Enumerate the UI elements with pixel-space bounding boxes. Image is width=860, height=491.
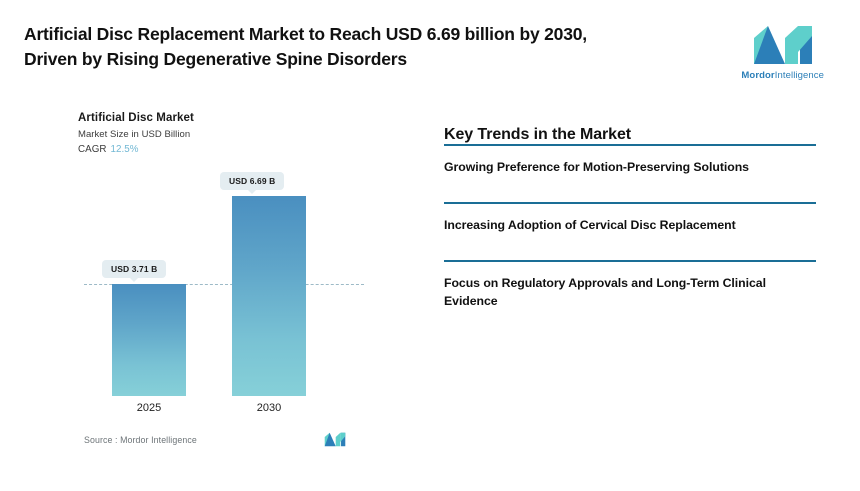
source-label: Source : Mordor Intelligence <box>84 435 197 445</box>
data-label-2025: USD 3.71 B <box>102 260 166 278</box>
trend-item-2: Increasing Adoption of Cervical Disc Rep… <box>444 202 816 260</box>
chart-cagr: CAGR12.5% <box>78 144 346 155</box>
page-header: Artificial Disc Replacement Market to Re… <box>0 0 860 104</box>
cagr-value: 12.5% <box>111 144 139 155</box>
brand-wordmark: MordorIntelligence <box>741 70 824 81</box>
key-trends-panel: Key Trends in the Market Growing Prefere… <box>444 126 816 329</box>
bar-2030 <box>232 196 306 396</box>
key-trends-title: Key Trends in the Market <box>444 126 816 144</box>
mordor-m-logo-icon <box>324 432 346 447</box>
x-tick-2030: 2030 <box>232 402 306 414</box>
trend-item-label: Focus on Regulatory Approvals and Long-T… <box>444 274 816 311</box>
chart-x-axis: 2025 2030 <box>78 402 346 420</box>
trend-item-label: Increasing Adoption of Cervical Disc Rep… <box>444 216 816 234</box>
chart-plot-area: USD 3.71 B USD 6.69 B <box>78 174 346 396</box>
chart-source: Source : Mordor Intelligence <box>84 432 346 447</box>
brand-logo: MordorIntelligence <box>741 24 824 81</box>
mordor-m-logo-icon <box>752 24 814 66</box>
trend-item-label: Growing Preference for Motion-Preserving… <box>444 158 816 176</box>
page-title: Artificial Disc Replacement Market to Re… <box>24 22 587 72</box>
x-tick-2025: 2025 <box>112 402 186 414</box>
brand-name-bold: Mordor <box>741 70 774 81</box>
cagr-label: CAGR <box>78 144 107 155</box>
trend-item-3: Focus on Regulatory Approvals and Long-T… <box>444 260 816 329</box>
data-label-2030: USD 6.69 B <box>220 172 284 190</box>
chart-subtitle: Market Size in USD Billion <box>78 129 346 140</box>
trend-item-1: Growing Preference for Motion-Preserving… <box>444 144 816 202</box>
bar-2025 <box>112 284 186 396</box>
brand-name-light: Intelligence <box>775 70 824 81</box>
chart-title: Artificial Disc Market <box>78 112 346 124</box>
market-size-chart: Artificial Disc Market Market Size in US… <box>78 112 346 442</box>
